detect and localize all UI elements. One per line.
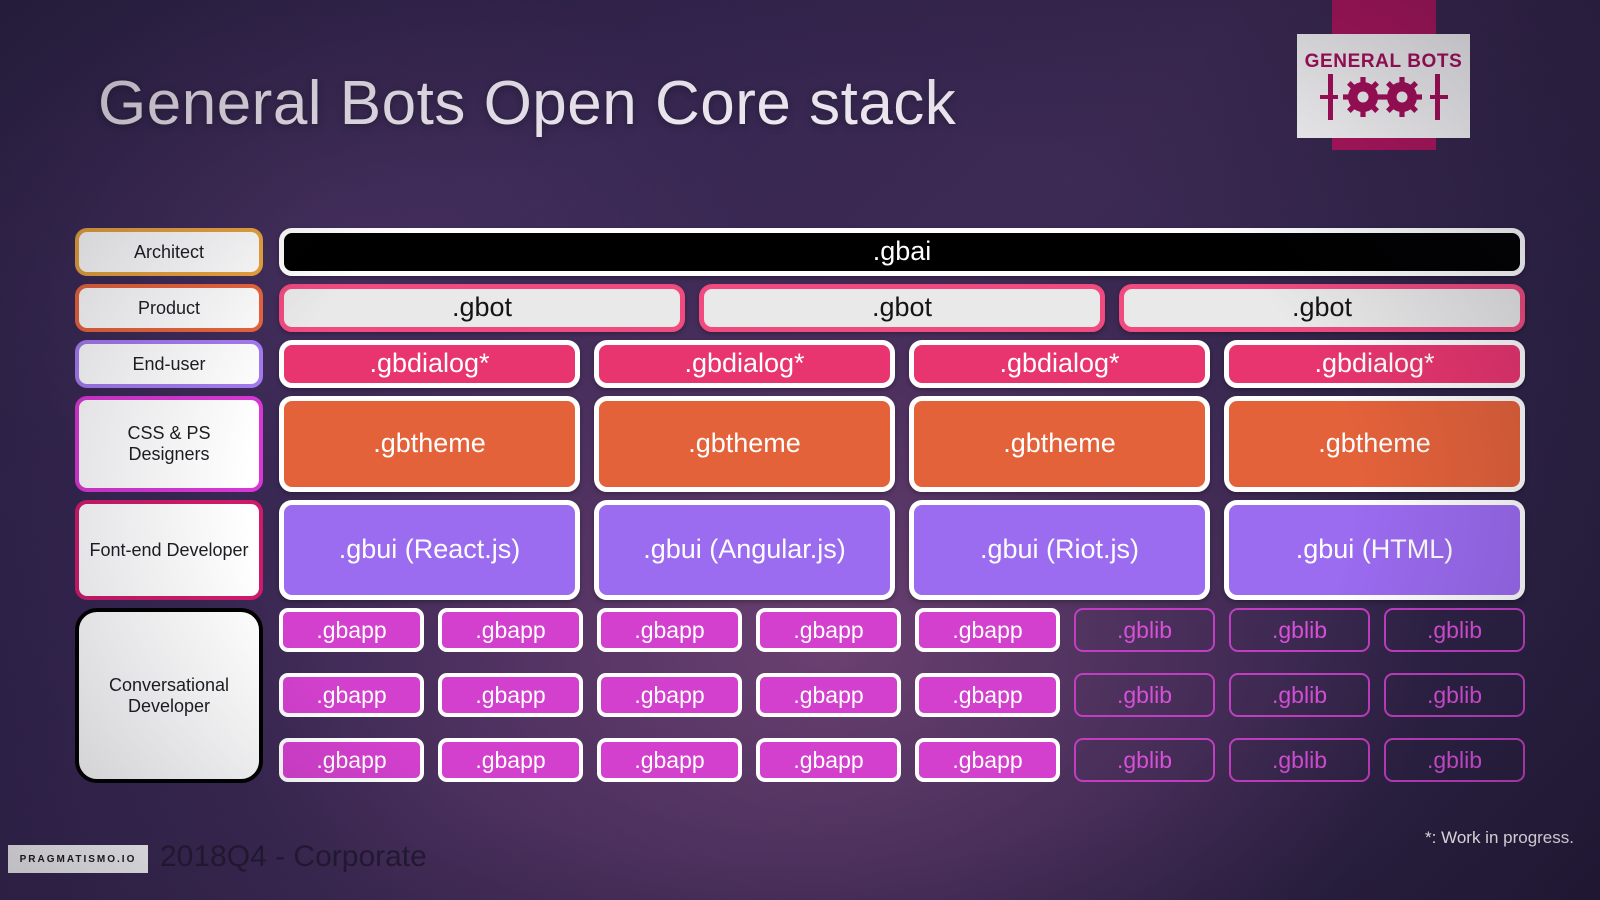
role-cell: Architect	[75, 228, 263, 276]
role-cell: End-user	[75, 340, 263, 388]
row-boxes: .gbdialog* .gbdialog* .gbdialog* .gbdial…	[279, 340, 1525, 388]
module-grid-row: .gbapp .gbapp .gbapp .gbapp .gbapp .gbli…	[279, 673, 1525, 717]
module-gbot[interactable]: .gbot	[1119, 284, 1525, 332]
module-gbapp[interactable]: .gbapp	[756, 673, 901, 717]
module-gblib[interactable]: .gblib	[1229, 608, 1370, 652]
module-gbtheme[interactable]: .gbtheme	[279, 396, 580, 492]
module-gbtheme[interactable]: .gbtheme	[909, 396, 1210, 492]
role-cell: Font-end Developer	[75, 500, 263, 600]
role-label-end-user[interactable]: End-user	[75, 340, 263, 388]
module-gbapp[interactable]: .gbapp	[756, 608, 901, 652]
module-grid: .gbapp .gbapp .gbapp .gbapp .gbapp .gbli…	[279, 608, 1525, 783]
logo-wordmark: GENERAL BOTS	[1305, 52, 1463, 71]
module-gbapp[interactable]: .gbapp	[279, 608, 424, 652]
page-title: General Bots Open Core stack	[98, 68, 956, 139]
footnote: *: Work in progress.	[1425, 828, 1574, 848]
module-gbtheme[interactable]: .gbtheme	[1224, 396, 1525, 492]
module-gbui-react[interactable]: .gbui (React.js)	[279, 500, 580, 600]
role-label-conversational-developer[interactable]: Conversational Developer	[75, 608, 263, 783]
module-gblib[interactable]: .gblib	[1074, 673, 1215, 717]
role-label-product[interactable]: Product	[75, 284, 263, 332]
row-boxes: .gbapp .gbapp .gbapp .gbapp .gbapp .gbli…	[279, 608, 1525, 783]
module-gbui-riot[interactable]: .gbui (Riot.js)	[909, 500, 1210, 600]
role-label-designers[interactable]: CSS & PS Designers	[75, 396, 263, 492]
pragmatismo-logo: PRAGMATISMO.IO	[8, 845, 148, 873]
module-gbot[interactable]: .gbot	[279, 284, 685, 332]
role-label-architect[interactable]: Architect	[75, 228, 263, 276]
module-gbapp[interactable]: .gbapp	[438, 673, 583, 717]
module-gblib[interactable]: .gblib	[1229, 673, 1370, 717]
role-cell: CSS & PS Designers	[75, 396, 263, 492]
module-gbapp[interactable]: .gbapp	[438, 738, 583, 782]
row-boxes: .gbai	[279, 228, 1525, 276]
module-gbdialog[interactable]: .gbdialog*	[279, 340, 580, 388]
module-gbapp[interactable]: .gbapp	[597, 673, 742, 717]
module-gbapp[interactable]: .gbapp	[756, 738, 901, 782]
module-gbai[interactable]: .gbai	[279, 228, 1525, 276]
role-cell: Conversational Developer	[75, 608, 263, 783]
module-gbdialog[interactable]: .gbdialog*	[594, 340, 895, 388]
module-gbtheme[interactable]: .gbtheme	[594, 396, 895, 492]
row-boxes: .gbot .gbot .gbot	[279, 284, 1525, 332]
module-gblib[interactable]: .gblib	[1229, 738, 1370, 782]
stack-row-end-user: End-user .gbdialog* .gbdialog* .gbdialog…	[75, 340, 1525, 388]
module-gblib[interactable]: .gblib	[1384, 673, 1525, 717]
stack-row-architect: Architect .gbai	[75, 228, 1525, 276]
module-gbapp[interactable]: .gbapp	[915, 673, 1060, 717]
row-boxes: .gbui (React.js) .gbui (Angular.js) .gbu…	[279, 500, 1525, 600]
module-gbapp[interactable]: .gbapp	[597, 738, 742, 782]
module-gblib[interactable]: .gblib	[1074, 738, 1215, 782]
stack-row-product: Product .gbot .gbot .gbot	[75, 284, 1525, 332]
general-bots-logo: GENERAL BOTS	[1297, 34, 1470, 138]
stack-row-frontend: Font-end Developer .gbui (React.js) .gbu…	[75, 500, 1525, 600]
module-gbapp[interactable]: .gbapp	[279, 673, 424, 717]
module-gbapp[interactable]: .gbapp	[915, 738, 1060, 782]
role-label-frontend-developer[interactable]: Font-end Developer	[75, 500, 263, 600]
module-gbdialog[interactable]: .gbdialog*	[909, 340, 1210, 388]
module-grid-row: .gbapp .gbapp .gbapp .gbapp .gbapp .gbli…	[279, 608, 1525, 652]
stack-diagram: Architect .gbai Product .gbot .gbot .gbo…	[75, 228, 1525, 791]
gears-between-bars-icon	[1320, 74, 1448, 120]
module-gbapp[interactable]: .gbapp	[279, 738, 424, 782]
module-gblib[interactable]: .gblib	[1384, 608, 1525, 652]
stack-row-designers: CSS & PS Designers .gbtheme .gbtheme .gb…	[75, 396, 1525, 492]
stack-row-conversational-developer: Conversational Developer .gbapp .gbapp .…	[75, 608, 1525, 783]
module-gbapp[interactable]: .gbapp	[915, 608, 1060, 652]
role-cell: Product	[75, 284, 263, 332]
module-gblib[interactable]: .gblib	[1384, 738, 1525, 782]
footer-caption: 2018Q4 - Corporate	[160, 840, 427, 874]
module-gbot[interactable]: .gbot	[699, 284, 1105, 332]
row-boxes: .gbtheme .gbtheme .gbtheme .gbtheme	[279, 396, 1525, 492]
slide-canvas: General Bots Open Core stack GENERAL BOT…	[0, 0, 1600, 900]
module-gbui-angular[interactable]: .gbui (Angular.js)	[594, 500, 895, 600]
module-gbdialog[interactable]: .gbdialog*	[1224, 340, 1525, 388]
module-gbapp[interactable]: .gbapp	[597, 608, 742, 652]
module-gbui-html[interactable]: .gbui (HTML)	[1224, 500, 1525, 600]
module-grid-row: .gbapp .gbapp .gbapp .gbapp .gbapp .gbli…	[279, 738, 1525, 782]
module-gblib[interactable]: .gblib	[1074, 608, 1215, 652]
module-gbapp[interactable]: .gbapp	[438, 608, 583, 652]
